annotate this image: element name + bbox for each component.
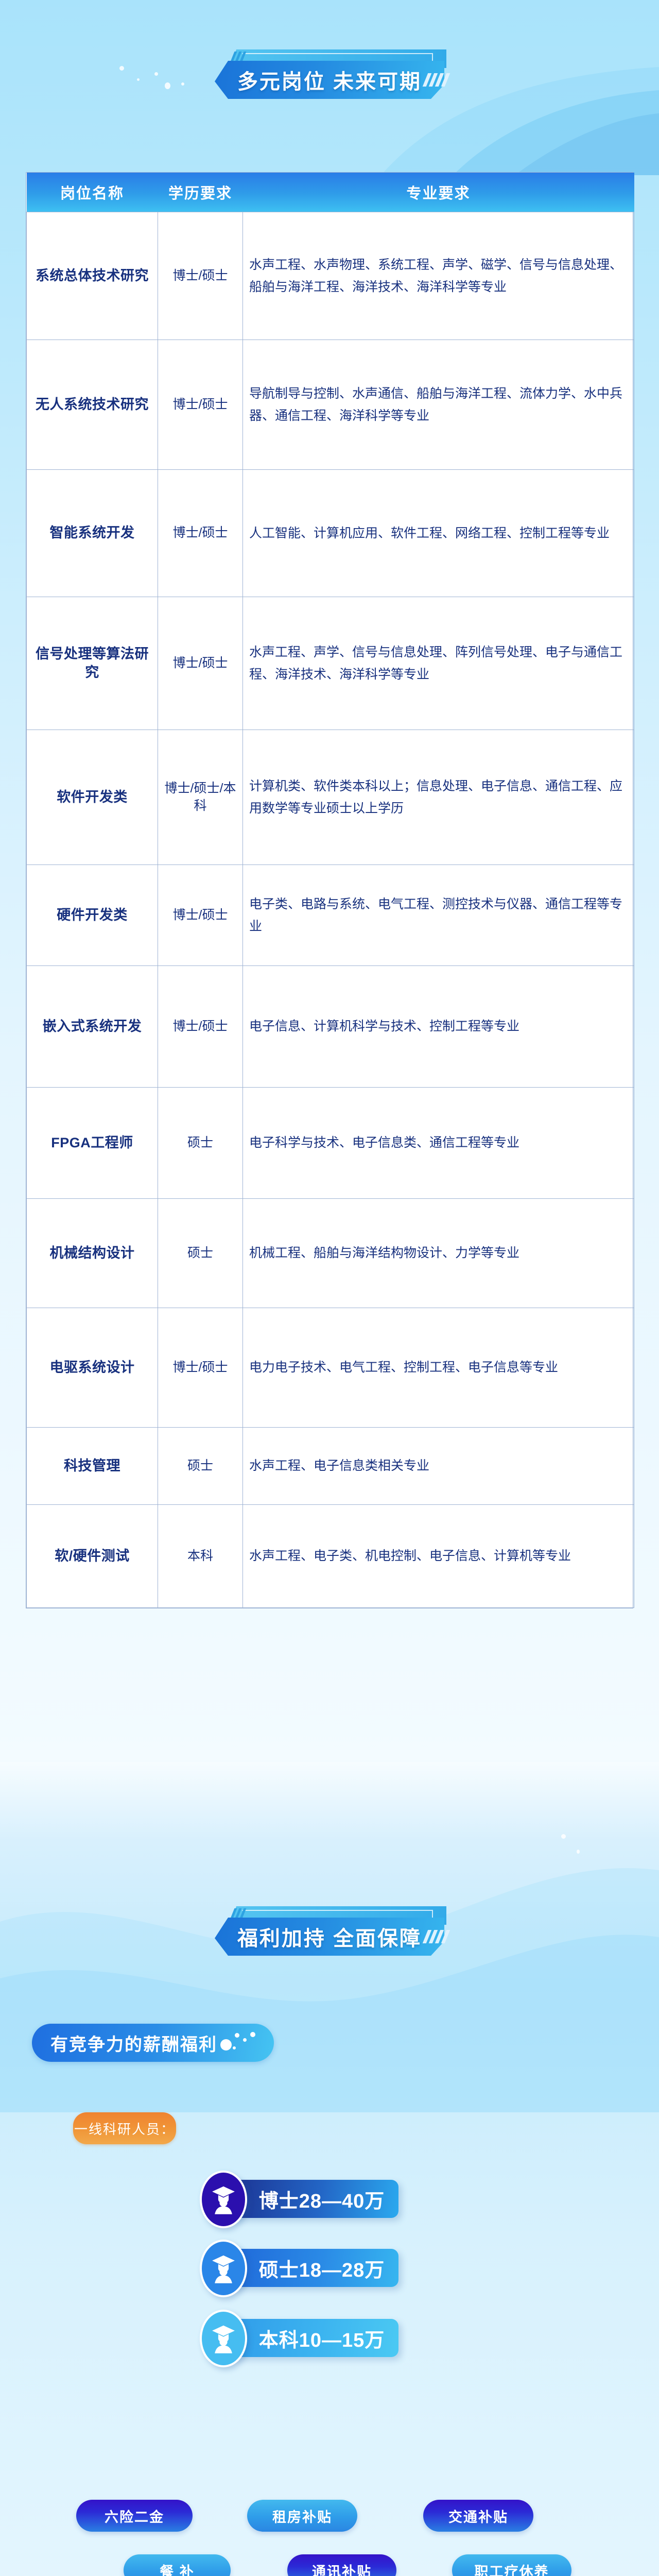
table-row: 科技管理 硕士 水声工程、电子信息类相关专业 [27,1428,634,1505]
header-major: 专业要求 [243,173,634,212]
banner-main-slab: 多元岗位 未来可期 [215,61,444,99]
benefit-tag-employee-recuperation: 职工疗休养 [452,2554,571,2576]
cell-position: 智能系统开发 [27,470,158,597]
recruitment-poster: 多元岗位 未来可期 岗位名称 学历要求 专业要求 系统总体技术研究 博士/硕士 … [0,0,659,2576]
welfare-banner-title: 福利加持 全面保障 [237,1922,422,1952]
cell-education: 博士/硕士 [158,597,243,730]
cell-position: FPGA工程师 [27,1088,158,1199]
jobs-table: 岗位名称 学历要求 专业要求 系统总体技术研究 博士/硕士 水声工程、水声物理、… [26,173,634,1608]
cell-education: 博士/硕士 [158,865,243,966]
cell-education: 博士/硕士 [158,1308,243,1428]
cell-major: 水声工程、水声物理、系统工程、声学、磁学、信号与信息处理、船舶与海洋工程、海洋技… [243,212,634,340]
cell-position: 无人系统技术研究 [27,340,158,470]
cell-major: 机械工程、船舶与海洋结构物设计、力学等专业 [243,1199,634,1308]
banner-right-stripes [423,1930,450,1943]
header-education: 学历要求 [158,173,243,212]
table-row: FPGA工程师 硕士 电子科学与技术、电子信息类、通信工程等专业 [27,1088,634,1199]
cell-education: 硕士 [158,1199,243,1308]
benefit-tag-transport-subsidy: 交通补贴 [423,2500,533,2532]
table-row: 智能系统开发 博士/硕士 人工智能、计算机应用、软件工程、网络工程、控制工程等专… [27,470,634,597]
cell-major: 电力电子技术、电气工程、控制工程、电子信息等专业 [243,1308,634,1428]
cell-major: 水声工程、电子信息类相关专业 [243,1428,634,1505]
cell-major: 导航制导与控制、水声通信、船舶与海洋工程、流体力学、水中兵器、通信工程、海洋科学… [243,340,634,470]
salary-title-pill: 有竞争力的薪酬福利 [32,2024,274,2062]
bubble-decoration [577,1850,580,1854]
graduate-icon [200,2240,247,2297]
cell-major: 水声工程、声学、信号与信息处理、阵列信号处理、电子与通信工程、海洋技术、海洋科学… [243,597,634,730]
cell-education: 博士/硕士 [158,340,243,470]
cell-major: 电子科学与技术、电子信息类、通信工程等专业 [243,1088,634,1199]
cell-major: 电子信息、计算机科学与技术、控制工程等专业 [243,966,634,1088]
salary-bar-master: 硕士18—28万 [223,2249,398,2287]
benefit-tag-label: 六险二金 [105,2506,164,2526]
salary-label-doctor: 博士28—40万 [259,2185,385,2213]
table-row: 软件开发类 博士/硕士/本科 计算机类、软件类本科以上；信息处理、电子信息、通信… [27,730,634,865]
bubble-decoration [561,1834,566,1839]
header-position: 岗位名称 [27,173,158,212]
cell-position: 机械结构设计 [27,1199,158,1308]
cell-position: 软/硬件测试 [27,1505,158,1608]
cell-position: 电驱系统设计 [27,1308,158,1428]
cell-major: 计算机类、软件类本科以上；信息处理、电子信息、通信工程、应用数学等专业硕士以上学… [243,730,634,865]
graduate-icon [200,2171,247,2228]
salary-bar-doctor: 博士28—40万 [223,2180,398,2218]
table-row: 软/硬件测试 本科 水声工程、电子类、机电控制、电子信息、计算机等专业 [27,1505,634,1608]
table-row: 机械结构设计 硕士 机械工程、船舶与海洋结构物设计、力学等专业 [27,1199,634,1308]
frontline-researcher-text: 一线科研人员： [74,2119,175,2138]
benefit-tag-label: 通讯补贴 [312,2561,372,2576]
salary-label-bachelor: 本科10—15万 [259,2324,385,2352]
table-row: 硬件开发类 博士/硕士 电子类、电路与系统、电气工程、测控技术与仪器、通信工程等… [27,865,634,966]
cell-major: 人工智能、计算机应用、软件工程、网络工程、控制工程等专业 [243,470,634,597]
salary-bar-bachelor: 本科10—15万 [223,2319,398,2357]
cell-education: 博士/硕士 [158,470,243,597]
cell-major: 水声工程、电子类、机电控制、电子信息、计算机等专业 [243,1505,634,1608]
benefit-tag-label: 交通补贴 [448,2506,508,2526]
benefit-tag-six-insurance: 六险二金 [76,2500,193,2532]
bubble-cluster-icon [219,2031,261,2055]
table-row: 电驱系统设计 博士/硕士 电力电子技术、电气工程、控制工程、电子信息等专业 [27,1308,634,1428]
banner-right-stripes [423,73,450,87]
salary-level-row: 硕士18—28万 [200,2244,467,2292]
cell-position: 科技管理 [27,1428,158,1505]
cell-education: 硕士 [158,1428,243,1505]
cell-position: 软件开发类 [27,730,158,865]
welfare-section-banner: 福利加持 全面保障 [0,1906,659,1956]
banner-main-slab: 福利加持 全面保障 [215,1918,444,1956]
benefit-tag-communication-subsidy: 通讯补贴 [287,2554,396,2576]
benefit-tag-housing-subsidy: 租房补贴 [247,2500,357,2532]
benefit-tag-meal-subsidy: 餐 补 [124,2554,231,2576]
bottom-background [0,1762,659,2576]
salary-level-row: 博士28—40万 [200,2175,467,2223]
table-row: 无人系统技术研究 博士/硕士 导航制导与控制、水声通信、船舶与海洋工程、流体力学… [27,340,634,470]
salary-title-text: 有竞争力的薪酬福利 [50,2030,217,2056]
salary-label-master: 硕士18—28万 [259,2254,385,2282]
cell-education: 博士/硕士 [158,212,243,340]
cell-education: 博士/硕士/本科 [158,730,243,865]
jobs-table-card: 岗位名称 学历要求 专业要求 系统总体技术研究 博士/硕士 水声工程、水声物理、… [26,172,633,1608]
cell-position: 信号处理等算法研究 [27,597,158,730]
cell-education: 本科 [158,1505,243,1608]
cell-major: 电子类、电路与系统、电气工程、测控技术与仪器、通信工程等专业 [243,865,634,966]
cell-position: 嵌入式系统开发 [27,966,158,1088]
cell-position: 系统总体技术研究 [27,212,158,340]
cell-education: 硕士 [158,1088,243,1199]
table-row: 系统总体技术研究 博士/硕士 水声工程、水声物理、系统工程、声学、磁学、信号与信… [27,212,634,340]
table-row: 嵌入式系统开发 博士/硕士 电子信息、计算机科学与技术、控制工程等专业 [27,966,634,1088]
salary-level-row: 本科10—15万 [200,2314,467,2362]
jobs-banner-title: 多元岗位 未来可期 [237,65,422,95]
table-header-row: 岗位名称 学历要求 专业要求 [27,173,634,212]
frontline-researcher-label: 一线科研人员： [73,2112,176,2144]
graduate-icon [200,2310,247,2367]
table-row: 信号处理等算法研究 博士/硕士 水声工程、声学、信号与信息处理、阵列信号处理、电… [27,597,634,730]
cell-education: 博士/硕士 [158,966,243,1088]
benefit-tag-label: 职工疗休养 [475,2561,549,2576]
benefit-tag-label: 租房补贴 [272,2506,332,2526]
jobs-section-banner: 多元岗位 未来可期 [0,49,659,99]
benefit-tag-label: 餐 补 [160,2561,195,2576]
cell-position: 硬件开发类 [27,865,158,966]
